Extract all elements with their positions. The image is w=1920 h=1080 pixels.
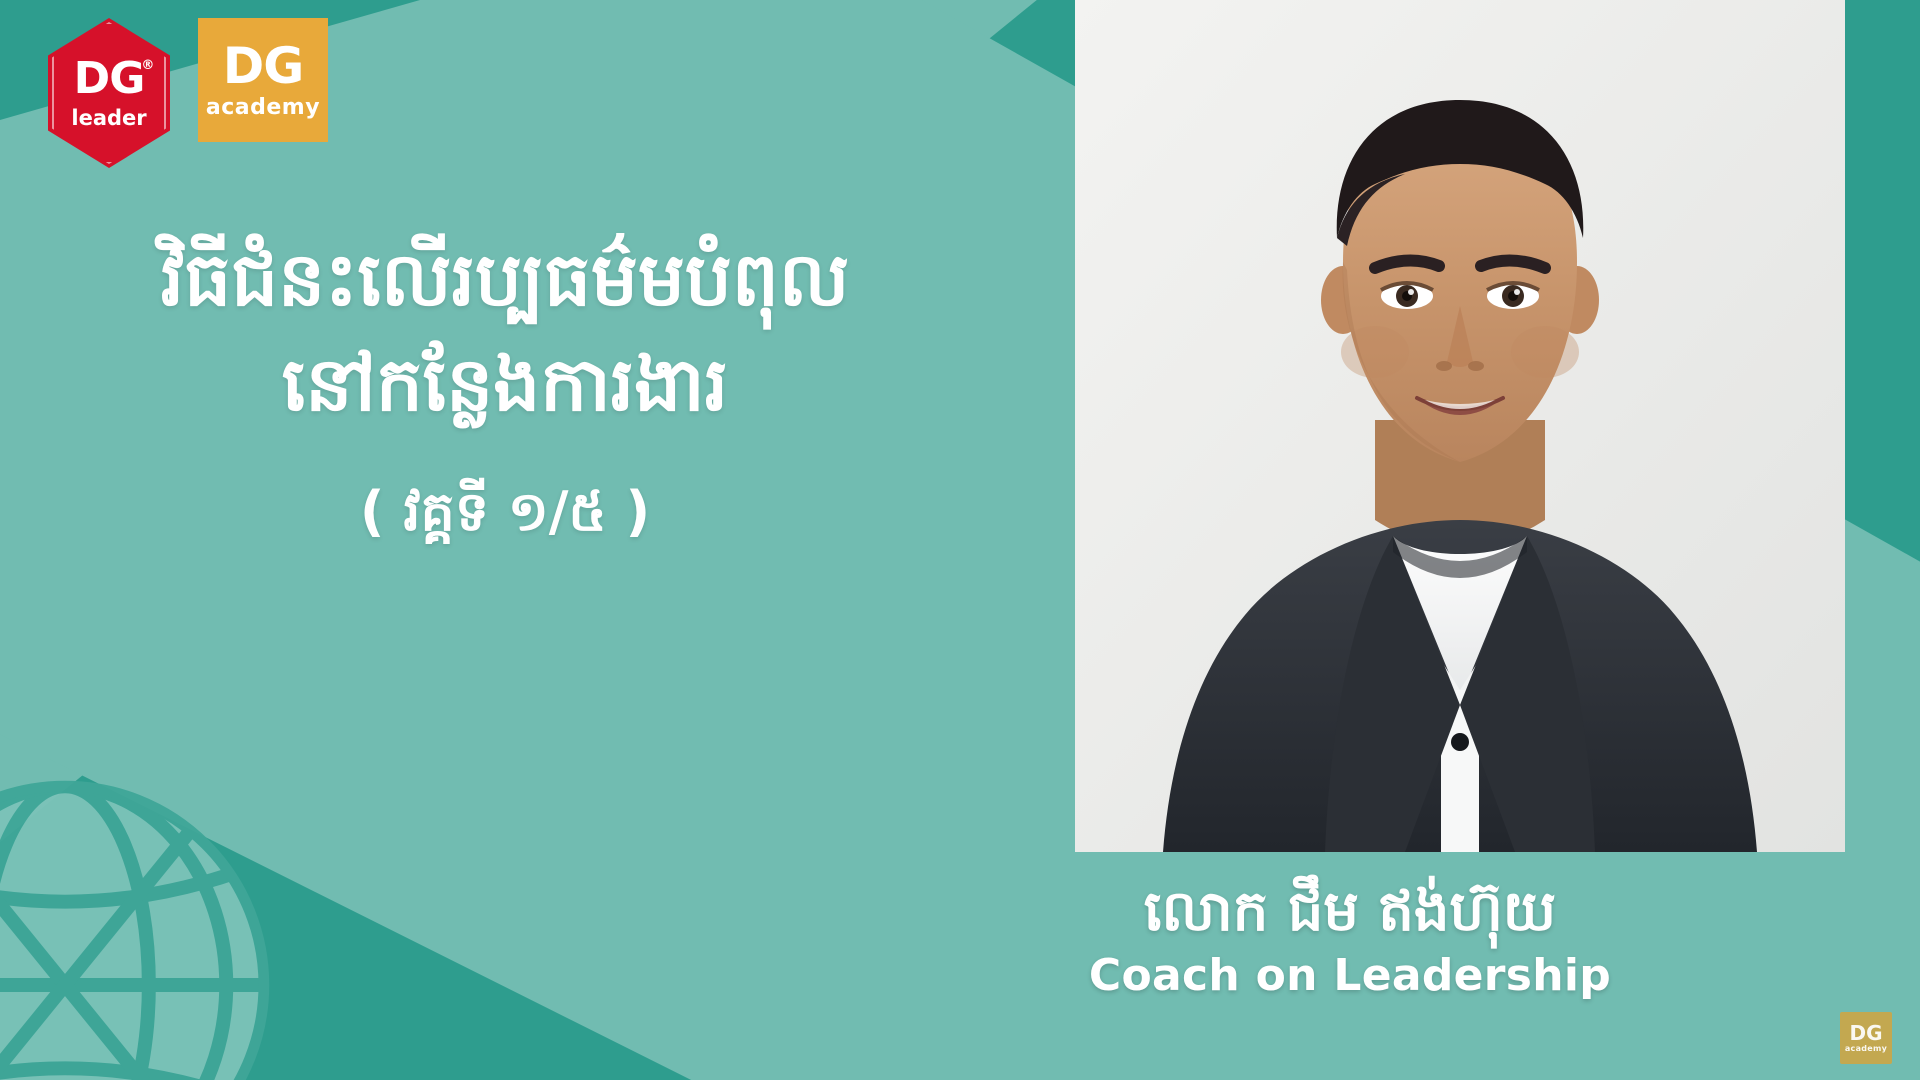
dg-leader-logo[interactable]: DG® leader bbox=[48, 18, 170, 168]
registered-icon: ® bbox=[141, 59, 153, 72]
dg-academy-subtitle: academy bbox=[206, 97, 320, 119]
headline-subtitle: ( វគ្គទី ១/៥ ) bbox=[0, 478, 1010, 557]
headline-line-1: វិធីជំនះលើរប្បធម៌មបំពុល bbox=[0, 228, 1010, 333]
watermark-wordmark: DG bbox=[1849, 1023, 1882, 1043]
slide-canvas: DG® leader DG academy វិធីជំនះលើរប្បធម៌ម… bbox=[0, 0, 1920, 1080]
globe-decoration-icon bbox=[0, 770, 280, 1080]
watermark-subtitle: academy bbox=[1845, 1045, 1887, 1053]
speaker-name: លោក ជឹម ឥង់ហ៊ុយ bbox=[950, 880, 1750, 944]
headline-line-2: នៅកន្លែងការងារ bbox=[0, 333, 1010, 438]
dg-leader-subtitle: leader bbox=[71, 108, 146, 129]
logo-row: DG® leader DG academy bbox=[48, 18, 328, 168]
dg-academy-wordmark: DG bbox=[223, 41, 304, 91]
dg-academy-watermark: DG academy bbox=[1840, 1012, 1892, 1064]
dg-leader-logo-text: DG® leader bbox=[48, 18, 170, 168]
coach-portrait bbox=[1075, 0, 1845, 852]
headline-block: វិធីជំនះលើរប្បធម៌មបំពុល នៅកន្លែងការងារ (… bbox=[0, 228, 1010, 557]
dg-academy-logo[interactable]: DG academy bbox=[198, 18, 328, 142]
dg-leader-wordmark: DG bbox=[74, 53, 145, 104]
speaker-role: Coach on Leadership bbox=[950, 950, 1750, 1001]
coach-portrait-image bbox=[1075, 0, 1845, 852]
speaker-block: លោក ជឹម ឥង់ហ៊ុយ Coach on Leadership bbox=[950, 880, 1750, 1001]
